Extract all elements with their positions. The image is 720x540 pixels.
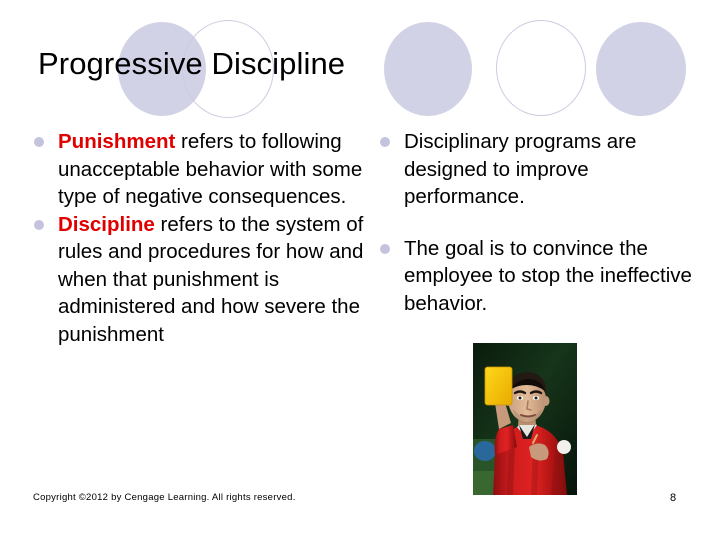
decor-circle-filled-2 xyxy=(384,22,472,116)
page-number: 8 xyxy=(670,492,676,504)
keyword-discipline: Discipline xyxy=(58,213,155,236)
right-content-column: Disciplinary programs are designed to im… xyxy=(372,128,702,317)
bullet-dot-icon xyxy=(380,137,390,147)
bullet-dot-icon xyxy=(34,220,44,230)
copyright-notice: Copyright ©2012 by Cengage Learning. All… xyxy=(33,492,296,504)
referee-photo xyxy=(473,343,577,495)
keyword-punishment: Punishment xyxy=(58,130,175,153)
list-item: The goal is to convince the employee to … xyxy=(372,235,702,318)
left-content-column: Punishment refers to following unaccepta… xyxy=(26,128,366,348)
slide-title: Progressive Discipline xyxy=(38,46,345,82)
list-item: Disciplinary programs are designed to im… xyxy=(372,128,702,211)
decor-circle-outline-2 xyxy=(496,20,586,116)
list-item-text: The goal is to convince the employee to … xyxy=(404,237,692,315)
slide: Progressive Discipline Punishment refers… xyxy=(0,0,720,540)
list-item-text: Disciplinary programs are designed to im… xyxy=(404,130,636,208)
bullet-dot-icon xyxy=(380,244,390,254)
list-item: Punishment refers to following unaccepta… xyxy=(26,128,366,211)
decor-circle-filled-3 xyxy=(596,22,686,116)
bullet-dot-icon xyxy=(34,137,44,147)
list-item: Discipline refers to the system of rules… xyxy=(26,211,366,349)
